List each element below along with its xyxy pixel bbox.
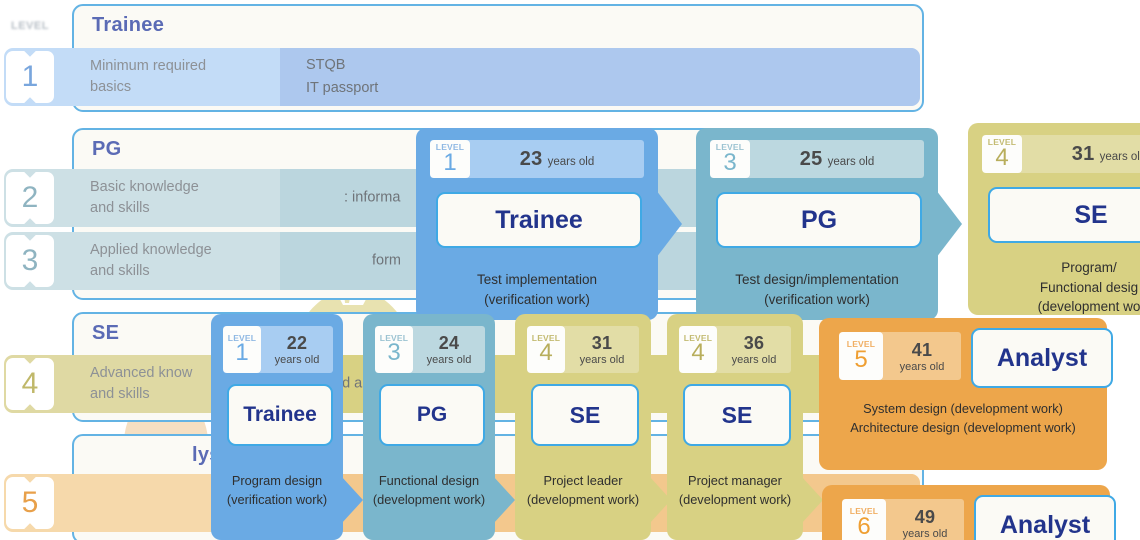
role-label-bottom-0: Trainee (243, 403, 317, 427)
age-num-bottom-3: 36 (744, 333, 765, 354)
track-card-analyst-2[interactable]: LEVEL 6 49 years old Analyst (822, 485, 1110, 540)
card-header-analyst-2: LEVEL 6 49 years old (842, 499, 964, 540)
age-bottom-3: 36 years old (717, 333, 791, 366)
age-num-bottom-1: 24 (439, 333, 460, 354)
level-badge-3: 3 (6, 235, 54, 287)
level-num-bottom-3: 4 (691, 341, 704, 365)
card-caption-bottom-1: Functional design (development work) (363, 472, 495, 509)
age-top-1: 25 years old (750, 148, 924, 171)
level-box-top-1: LEVEL 3 (710, 140, 750, 178)
chevron-tip-top-1 (936, 190, 962, 258)
track-card-bottom-2[interactable]: LEVEL 4 31 years old SE Project leader (… (515, 314, 651, 540)
age-analyst-2: 49 years old (886, 507, 964, 540)
level-box-bottom-1: LEVEL 3 (375, 326, 413, 373)
title-card-pg-label: PG (92, 138, 122, 161)
level-box-top-0: LEVEL 1 (430, 140, 470, 178)
age-unit-bottom-3: years old (732, 354, 777, 366)
age-top-2: 31 years old (1022, 143, 1140, 166)
card-caption-bottom-3: Project manager (development work) (657, 472, 813, 509)
age-unit-bottom-1: years old (427, 354, 472, 366)
role-box-analyst[interactable]: Analyst (971, 328, 1113, 388)
level-num-bottom-1: 3 (387, 341, 400, 365)
role-box-bottom-0[interactable]: Trainee (227, 384, 333, 446)
age-unit-top-1: years old (828, 156, 875, 168)
age-num-top-1: 25 (800, 148, 823, 171)
role-label-analyst-2: Analyst (1000, 511, 1090, 540)
chevron-tip-bottom-0 (341, 476, 363, 524)
role-box-bottom-3[interactable]: SE (683, 384, 791, 446)
bg-row-2-cert: : informa (344, 186, 400, 209)
role-box-bottom-2[interactable]: SE (531, 384, 639, 446)
card-caption-analyst: System design (development work) Archite… (819, 400, 1107, 437)
track-card-analyst[interactable]: LEVEL 5 41 years old Analyst System desi… (819, 318, 1107, 470)
level-badge-1: 1 (6, 51, 54, 103)
track-card-top-0[interactable]: LEVEL 1 23 years old Trainee Test implem… (416, 128, 658, 320)
bg-row-1: Minimum required basics STQB IT passport (4, 48, 920, 106)
role-label-top-2: SE (1074, 201, 1107, 230)
track-card-bottom-3[interactable]: LEVEL 4 36 years old SE Project manager … (667, 314, 803, 540)
role-label-top-0: Trainee (495, 206, 583, 235)
card-header-analyst: LEVEL 5 41 years old (839, 332, 961, 380)
level-box-analyst-2: LEVEL 6 (842, 499, 886, 540)
age-num-top-0: 23 (520, 148, 543, 171)
level-num-bottom-2: 4 (539, 341, 552, 365)
level-badge-5-num: 5 (22, 488, 39, 518)
level-box-bottom-3: LEVEL 4 (679, 326, 717, 373)
age-unit-bottom-2: years old (580, 354, 625, 366)
card-header-top-1: LEVEL 3 25 years old (710, 140, 924, 178)
track-card-top-1[interactable]: LEVEL 3 25 years old PG Test design/impl… (696, 128, 938, 320)
level-num-top-2: 4 (995, 146, 1008, 170)
card-header-bottom-2: LEVEL 4 31 years old (527, 326, 639, 373)
role-label-bottom-1: PG (417, 403, 447, 427)
level-badge-2-num: 2 (22, 183, 39, 213)
level-badge-1-num: 1 (22, 62, 39, 92)
age-bottom-0: 22 years old (261, 333, 333, 366)
bg-row-4-desc: Advanced know and skills (90, 363, 192, 405)
track-card-bottom-1[interactable]: LEVEL 3 24 years old PG Functional desig… (363, 314, 495, 540)
card-caption-top-1: Test design/implementation (verification… (696, 270, 938, 309)
age-num-top-2: 31 (1072, 143, 1095, 166)
level-num-top-0: 1 (443, 151, 456, 175)
track-card-top-2[interactable]: LEVEL 4 31 years old SE Program/ Functio… (968, 123, 1140, 315)
age-num-bottom-2: 31 (592, 333, 613, 354)
age-unit-top-2: years old (1100, 151, 1140, 163)
card-header-bottom-3: LEVEL 4 36 years old (679, 326, 791, 373)
level-box-analyst: LEVEL 5 (839, 332, 883, 380)
level-badge-2: 2 (6, 172, 54, 224)
title-card-se-label: SE (92, 322, 119, 345)
role-box-bottom-1[interactable]: PG (379, 384, 485, 446)
card-header-top-0: LEVEL 1 23 years old (430, 140, 644, 178)
title-card-trainee-label: Trainee (92, 14, 164, 37)
card-caption-bottom-0: Program design (verification work) (211, 472, 343, 509)
level-box-bottom-0: LEVEL 1 (223, 326, 261, 373)
age-bottom-2: 31 years old (565, 333, 639, 366)
age-unit-top-0: years old (548, 156, 595, 168)
age-unit-analyst-2: years old (903, 528, 948, 540)
age-top-0: 23 years old (470, 148, 644, 171)
card-header-bottom-0: LEVEL 1 22 years old (223, 326, 333, 373)
bg-row-1-desc: Minimum required basics (90, 56, 206, 98)
role-label-top-1: PG (801, 206, 837, 235)
level-num-analyst: 5 (854, 348, 867, 372)
level-num-bottom-0: 1 (235, 341, 248, 365)
level-box-top-2: LEVEL 4 (982, 135, 1022, 173)
role-box-top-2[interactable]: SE (988, 187, 1140, 243)
level-badge-5: 5 (6, 477, 54, 529)
bg-row-3-desc: Applied knowledge and skills (90, 240, 212, 282)
career-path-chart: Trainee Minimum required basics STQB IT … (0, 0, 1140, 540)
track-card-bottom-0[interactable]: LEVEL 1 22 years old Trainee Program des… (211, 314, 343, 540)
age-unit-analyst: years old (900, 361, 945, 373)
role-box-top-0[interactable]: Trainee (436, 192, 642, 248)
card-caption-bottom-2: Project leader (development work) (508, 472, 658, 509)
age-num-analyst: 41 (912, 340, 933, 361)
role-box-top-1[interactable]: PG (716, 192, 922, 248)
card-header-bottom-1: LEVEL 3 24 years old (375, 326, 485, 373)
level-num-analyst-2: 6 (857, 515, 870, 539)
chevron-tip-top-0 (656, 190, 682, 258)
card-header-top-2: LEVEL 4 31 years old (982, 135, 1140, 173)
role-label-bottom-2: SE (570, 402, 601, 429)
bg-row-2-desc: Basic knowledge and skills (90, 177, 199, 219)
card-caption-top-0: Test implementation (verification work) (416, 270, 658, 309)
role-box-analyst-2[interactable]: Analyst (974, 495, 1116, 540)
role-label-analyst: Analyst (997, 344, 1087, 373)
level-badge-4-num: 4 (22, 369, 39, 399)
bg-row-3-cert: form (372, 249, 401, 272)
age-analyst: 41 years old (883, 340, 961, 373)
age-unit-bottom-0: years old (275, 354, 320, 366)
level-num-top-1: 3 (723, 151, 736, 175)
age-num-analyst-2: 49 (915, 507, 936, 528)
card-caption-top-2: Program/ Functional desig (development w… (968, 258, 1140, 317)
level-box-bottom-2: LEVEL 4 (527, 326, 565, 373)
bg-row-1-cert: STQB IT passport (306, 54, 378, 100)
role-label-bottom-3: SE (722, 402, 753, 429)
age-num-bottom-0: 22 (287, 333, 308, 354)
level-axis-label: LEVEL (11, 20, 49, 32)
age-bottom-1: 24 years old (413, 333, 485, 366)
level-badge-3-num: 3 (22, 246, 39, 276)
level-badge-4: 4 (6, 358, 54, 410)
